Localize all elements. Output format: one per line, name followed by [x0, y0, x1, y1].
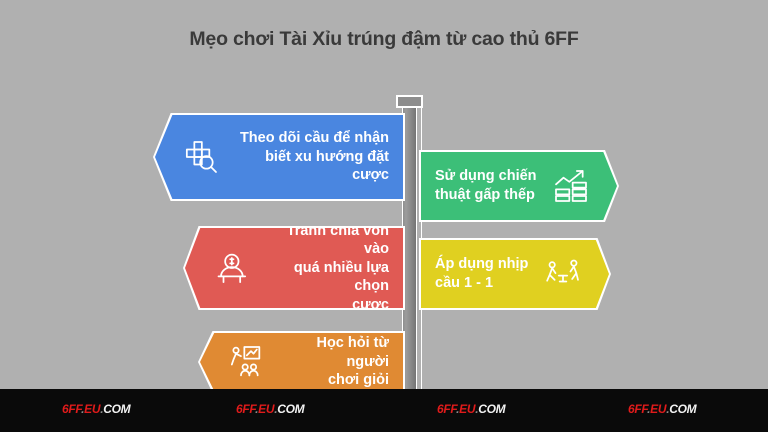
- infographic-canvas: Mẹo chơi Tài Xỉu trúng đậm từ cao thủ 6F…: [0, 0, 768, 432]
- footer-watermark-bar: 6FF.EU.COM 6FF.EU.COM 6FF.EU.COM 6FF.EU.…: [0, 389, 768, 432]
- watermark-0-tld: EU: [84, 402, 100, 416]
- watermark-1-com: COM: [277, 402, 304, 416]
- watermark-2-brand: 6FF: [437, 402, 456, 416]
- watermark-1: 6FF.EU.COM: [236, 402, 304, 416]
- sign-2-chien-thuat-gap-thep[interactable]: Sử dụng chiến thuật gấp thếp: [421, 152, 617, 220]
- sign-5-label: Học hỏi từ người chơi giỏi: [274, 334, 389, 390]
- sign-4-nhip-cau[interactable]: Áp dụng nhịp cầu 1 - 1: [421, 240, 609, 308]
- watermark-0-com: COM: [103, 402, 130, 416]
- watermark-0-brand: 6FF: [62, 402, 81, 416]
- watermark-1-tld: EU: [258, 402, 274, 416]
- sign-3-label: Tránh chia vốn vào quá nhiều lựa chọn cư…: [259, 222, 389, 315]
- watermark-3-tld: EU: [650, 402, 666, 416]
- growth-chart-bars-icon: [551, 166, 591, 206]
- watermark-0: 6FF.EU.COM: [62, 402, 130, 416]
- signpost-pole-cap: [396, 95, 423, 108]
- watermark-3-brand: 6FF: [628, 402, 647, 416]
- sign-1-theo-doi-cau[interactable]: Theo dõi cầu để nhận biết xu hướng đặt c…: [155, 115, 403, 199]
- grid-search-icon: [181, 137, 221, 177]
- sign-2-label: Sử dụng chiến thuật gấp thếp: [435, 167, 543, 204]
- watermark-2: 6FF.EU.COM: [437, 402, 505, 416]
- sign-1-label: Theo dõi cầu để nhận biết xu hướng đặt c…: [229, 129, 389, 185]
- sign-3-tranh-chia-von[interactable]: Tránh chia vốn vào quá nhiều lựa chọn cư…: [185, 228, 403, 308]
- sign-5-hoc-hoi[interactable]: Học hỏi từ người chơi giỏi: [200, 333, 403, 391]
- two-people-balance-icon: [543, 254, 583, 294]
- sign-4-label: Áp dụng nhịp cầu 1 - 1: [435, 255, 535, 292]
- watermark-1-brand: 6FF: [236, 402, 255, 416]
- watermark-3: 6FF.EU.COM: [628, 402, 696, 416]
- page-title: Mẹo chơi Tài Xỉu trúng đậm từ cao thủ 6F…: [0, 28, 768, 51]
- watermark-3-com: COM: [669, 402, 696, 416]
- watermark-2-com: COM: [478, 402, 505, 416]
- watermark-2-tld: EU: [459, 402, 475, 416]
- coin-deposit-icon: [211, 248, 251, 288]
- teaching-presentation-icon: [226, 342, 266, 382]
